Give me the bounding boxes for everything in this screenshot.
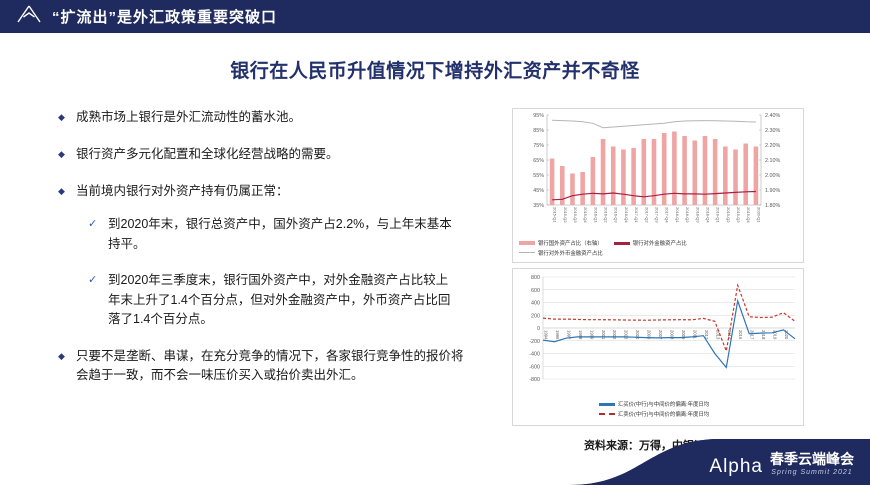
diamond-bullet-icon: ◆	[58, 348, 76, 365]
svg-text:1994: 1994	[544, 330, 549, 340]
svg-text:2018-Q3: 2018-Q3	[695, 207, 700, 223]
list-item: ◆ 成熟市场上银行是外汇流动性的蓄水池。	[58, 108, 478, 127]
svg-text:2019-Q4: 2019-Q4	[746, 207, 751, 223]
svg-text:-200: -200	[529, 339, 540, 345]
svg-text:2017-Q4: 2017-Q4	[665, 207, 670, 223]
svg-text:85%: 85%	[533, 128, 544, 134]
diamond-bullet-icon: ◆	[58, 109, 76, 126]
svg-text:800: 800	[531, 275, 540, 281]
svg-text:2017-Q2: 2017-Q2	[644, 207, 649, 223]
legend-item: 银行国外资产占比（右轴）	[519, 239, 603, 247]
legend-swatch-line	[519, 252, 535, 254]
content-body: ◆ 成熟市场上银行是外汇流动性的蓄水池。 ◆ 银行资产多元化配置和全球化经营战略…	[58, 108, 478, 403]
svg-text:2016-Q1: 2016-Q1	[593, 207, 598, 223]
sub-list: ✓ 到2020年末，银行总资产中，国外资产占2.2%，与上年末基本持平。 ✓ 到…	[88, 215, 478, 330]
list-item-label: 到2020年末，银行总资产中，国外资产占2.2%，与上年末基本持平。	[108, 215, 460, 254]
svg-text:2018-Q1: 2018-Q1	[675, 207, 680, 223]
triangle-a-logo-icon	[16, 4, 42, 29]
summit-name-en: Spring Summit 2021	[771, 469, 852, 476]
svg-text:2001: 2001	[601, 330, 606, 340]
svg-text:2016: 2016	[738, 330, 743, 340]
svg-text:2019-Q2: 2019-Q2	[726, 207, 731, 223]
list-item: ✓ 到2020年三季度末，银行国外资产中，对外金融资产占比较上年末上升了1.4个…	[88, 271, 478, 330]
chart-bottom-legend: 汇买价(中行)与中间价的偏离:年度日均 汇卖价(中行)与中间价的偏离:年度日均	[513, 398, 803, 421]
list-item: ◆ 银行资产多元化配置和全球化经营战略的需要。	[58, 145, 478, 164]
svg-text:2018-Q2: 2018-Q2	[685, 207, 690, 223]
svg-text:2017-Q1: 2017-Q1	[634, 207, 639, 223]
svg-text:1.90%: 1.90%	[765, 188, 780, 194]
svg-text:2016-Q4: 2016-Q4	[624, 207, 629, 223]
svg-text:400: 400	[531, 301, 540, 307]
svg-text:1.80%: 1.80%	[765, 203, 780, 209]
svg-text:2002: 2002	[612, 330, 617, 340]
legend-swatch-dashed-line	[599, 413, 615, 415]
summit-name-cn: 春季云端峰会	[770, 452, 854, 466]
chart-bank-foreign-assets: 95%85%75%65%55%45%35%2.40%2.30%2.20%2.10…	[512, 108, 804, 263]
legend-item: 汇卖价(中行)与中间价的偏离:年度日均	[599, 410, 709, 418]
svg-text:2016-Q2: 2016-Q2	[604, 207, 609, 223]
svg-text:1996: 1996	[555, 330, 560, 340]
diamond-bullet-icon: ◆	[58, 146, 76, 163]
svg-text:2015-Q1: 2015-Q1	[553, 207, 558, 223]
svg-text:2.40%: 2.40%	[765, 113, 780, 119]
legend-label: 汇买价(中行)与中间价的偏离:年度日均	[618, 400, 709, 408]
header-title: “扩流出”是外汇政策重要突破口	[52, 6, 277, 27]
svg-text:1999: 1999	[589, 330, 594, 340]
svg-text:2020-Q1: 2020-Q1	[756, 207, 761, 223]
svg-text:-600: -600	[529, 364, 540, 370]
svg-text:-800: -800	[529, 377, 540, 383]
list-item: ✓ 到2020年末，银行总资产中，国外资产占2.2%，与上年末基本持平。	[88, 215, 478, 254]
svg-text:2011: 2011	[692, 330, 697, 340]
legend-item: 汇买价(中行)与中间价的偏离:年度日均	[599, 400, 709, 408]
legend-label: 汇卖价(中行)与中间价的偏离:年度日均	[618, 410, 709, 418]
alpha-logo: Alpha 春季云端峰会 Spring Summit 2021	[709, 452, 854, 476]
svg-text:2004: 2004	[635, 330, 640, 340]
svg-text:2.00%: 2.00%	[765, 173, 780, 179]
list-item: ◆ 只要不是垄断、串谋，在充分竞争的情况下，各家银行竞争性的报价将会趋于一致，而…	[58, 347, 478, 385]
svg-text:95%: 95%	[533, 113, 544, 119]
diamond-bullet-icon: ◆	[58, 183, 76, 200]
svg-text:65%: 65%	[533, 158, 544, 164]
svg-text:2015-Q2: 2015-Q2	[563, 207, 568, 223]
svg-text:2.30%: 2.30%	[765, 128, 780, 134]
list-item-label: 当前境内银行对外资产持有仍属正常：	[76, 182, 289, 201]
legend-swatch-line	[599, 403, 615, 406]
svg-text:2018-Q4: 2018-Q4	[705, 207, 710, 223]
svg-text:35%: 35%	[533, 203, 544, 209]
check-icon: ✓	[88, 215, 108, 233]
svg-text:2009: 2009	[681, 330, 686, 340]
svg-text:2017: 2017	[750, 330, 755, 340]
svg-text:2003: 2003	[624, 330, 629, 340]
svg-text:75%: 75%	[533, 143, 544, 149]
list-item-label: 到2020年三季度末，银行国外资产中，对外金融资产占比较上年末上升了1.4个百分…	[108, 271, 460, 330]
list-item-label: 只要不是垄断、串谋，在充分竞争的情况下，各家银行竞争性的报价将会趋于一致，而不会…	[76, 347, 466, 385]
legend-item: 银行对外外币金融资产占比	[519, 249, 603, 257]
header-bar: “扩流出”是外汇政策重要突破口	[0, 0, 870, 33]
legend-swatch-line	[614, 242, 630, 245]
svg-text:45%: 45%	[533, 188, 544, 194]
list-item-label: 银行资产多元化配置和全球化经营战略的需要。	[76, 145, 339, 164]
chart-top-legend: 银行国外资产占比（右轴） 银行对外金融资产占比 银行对外外币金融资产占比	[513, 237, 803, 260]
svg-text:200: 200	[531, 313, 540, 319]
svg-text:2016-Q3: 2016-Q3	[614, 207, 619, 223]
list-item-label: 成熟市场上银行是外汇流动性的蓄水池。	[76, 108, 301, 127]
svg-text:2.10%: 2.10%	[765, 158, 780, 164]
svg-text:2008: 2008	[670, 330, 675, 340]
svg-text:2006: 2006	[647, 330, 652, 340]
list-item: ◆ 当前境内银行对外资产持有仍属正常：	[58, 182, 478, 201]
page-title: 银行在人民币升值情况下增持外汇资产并不奇怪	[0, 56, 870, 83]
svg-text:2015-Q3: 2015-Q3	[573, 207, 578, 223]
legend-item: 银行对外金融资产占比	[614, 239, 687, 247]
svg-text:2019-Q1: 2019-Q1	[716, 207, 721, 223]
legend-swatch-bar	[519, 241, 535, 245]
svg-text:2018: 2018	[761, 330, 766, 340]
svg-text:2015-Q4: 2015-Q4	[583, 207, 588, 223]
legend-label: 银行对外外币金融资产占比	[538, 249, 603, 257]
check-icon: ✓	[88, 271, 108, 289]
svg-text:55%: 55%	[533, 173, 544, 179]
svg-text:2.20%: 2.20%	[765, 143, 780, 149]
svg-text:2017-Q3: 2017-Q3	[655, 207, 660, 223]
chart-fx-spread-deviation: 8006004002000-200-400-600-80019941996199…	[512, 268, 804, 426]
legend-label: 银行对外金融资产占比	[633, 239, 687, 247]
footer-logo-ribbon: Alpha 春季云端峰会 Spring Summit 2021	[570, 433, 870, 485]
svg-text:2019-Q3: 2019-Q3	[736, 207, 741, 223]
svg-text:0: 0	[537, 326, 540, 332]
svg-text:-400: -400	[529, 352, 540, 358]
svg-text:2007: 2007	[658, 330, 663, 340]
alpha-wordmark: Alpha	[709, 457, 763, 476]
legend-label: 银行国外资产占比（右轴）	[538, 239, 603, 247]
svg-text:600: 600	[531, 288, 540, 294]
svg-text:1998: 1998	[578, 330, 583, 340]
